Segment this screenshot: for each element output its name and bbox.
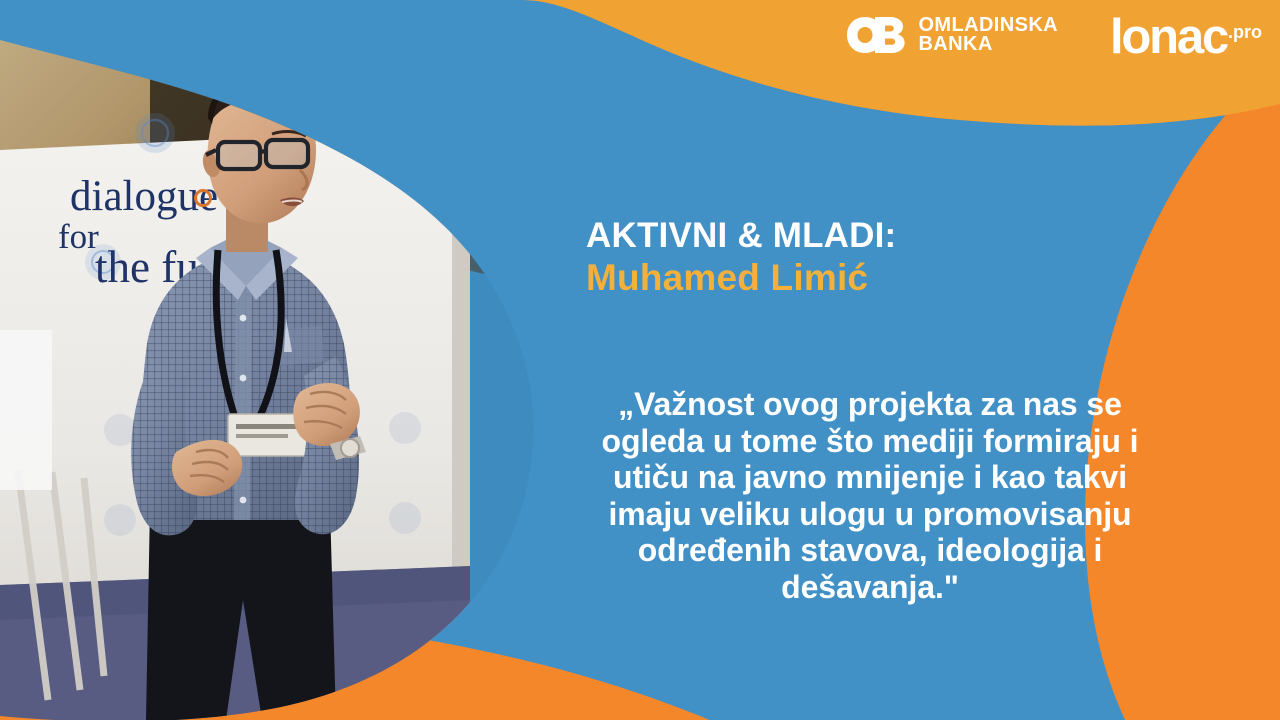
headline-name: Muhamed Limić [586,256,1206,300]
quote-text: „Važnost ovog projekta za nas se ogleda … [600,386,1140,605]
omladinska-banka-wordmark: OMLADINSKA BANKA [918,16,1058,54]
ob-monogram-icon [845,15,907,55]
photo-content: dialogue for the fu [0,0,580,720]
lonac-logo[interactable]: lonac .pro [1110,8,1262,62]
omladinska-banka-logo[interactable]: OMLADINSKA BANKA [845,15,1058,55]
promo-graphic: dialogue for the fu [0,0,1280,720]
ob-line-2: BANKA [918,35,1058,54]
headline-block: AKTIVNI & MLADI: Muhamed Limić [586,216,1206,300]
logo-row: OMLADINSKA BANKA lonac .pro [845,8,1262,62]
speaker-photo-svg: dialogue for the fu [0,0,580,720]
lonac-name: lonac [1110,13,1227,62]
speaker-photo: dialogue for the fu [0,0,580,720]
lonac-tld: .pro [1228,8,1262,62]
headline-kicker: AKTIVNI & MLADI: [586,216,1206,256]
